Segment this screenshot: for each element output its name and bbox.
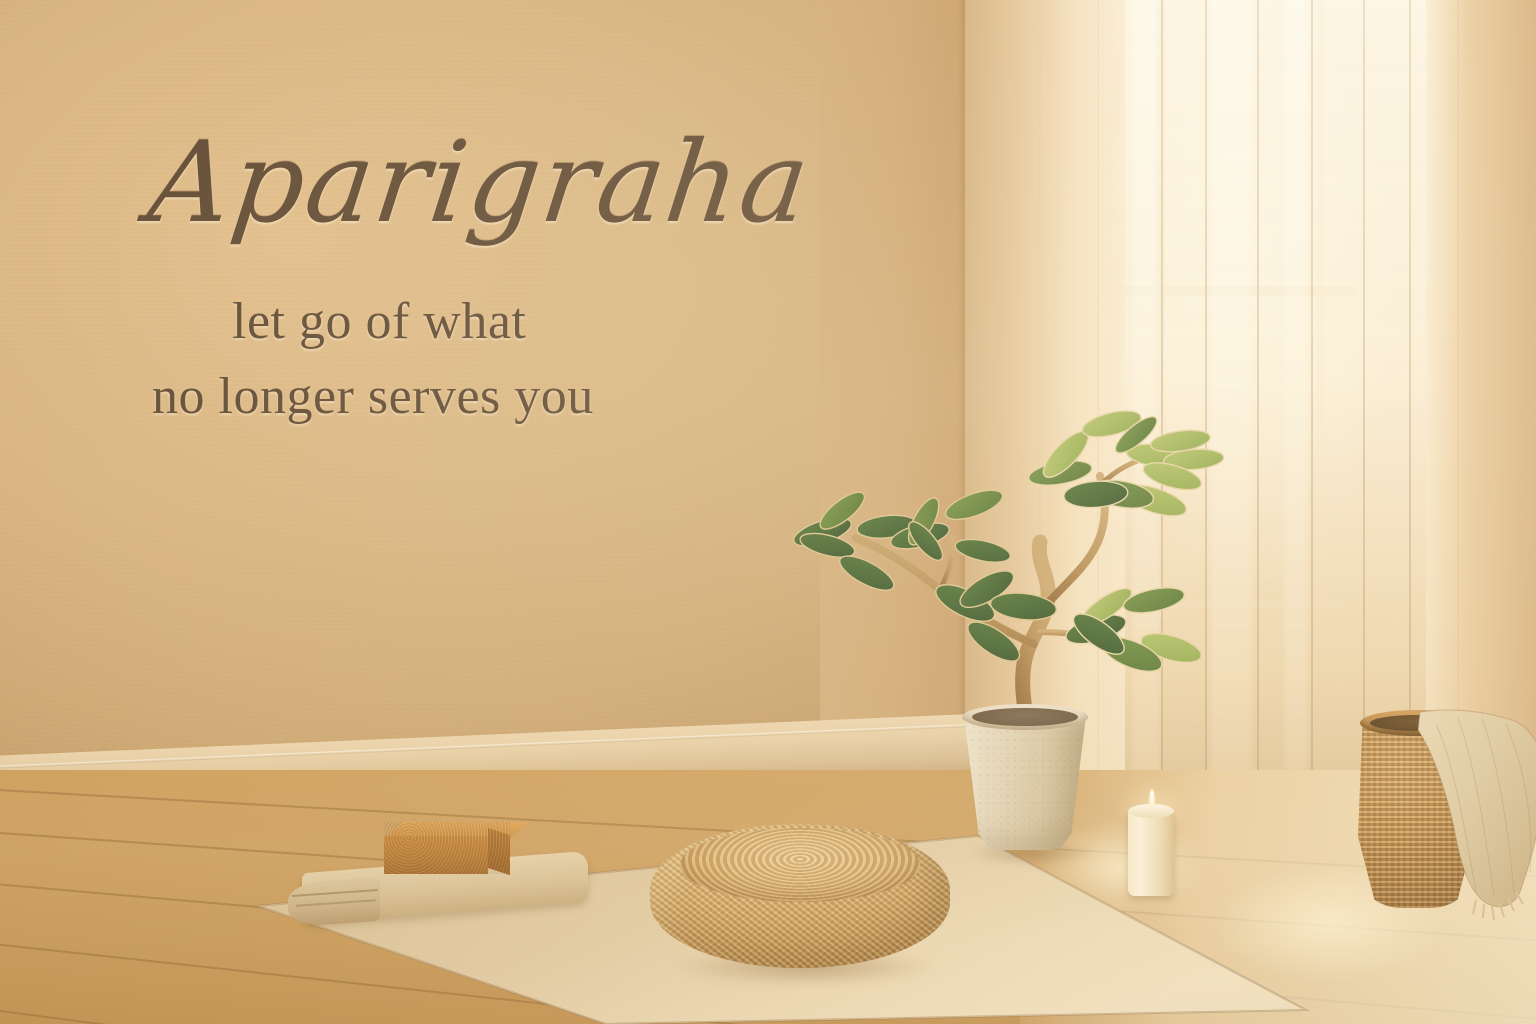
- planter-soil: [972, 708, 1078, 726]
- curtain-fold: [1311, 0, 1313, 830]
- curtain-highlight: [1285, 0, 1307, 830]
- candle-top-surface: [1128, 804, 1174, 818]
- throw-drape: [1418, 710, 1536, 907]
- pouf-top-surface: [680, 828, 920, 902]
- subtitle-line-1: let go of what: [232, 292, 526, 351]
- potted-plant: [800, 240, 1260, 740]
- candle-wax-body: [1128, 810, 1174, 896]
- throw-blanket: [1414, 708, 1536, 920]
- leaf-cluster-right-mid: [1063, 582, 1204, 678]
- pillar-candle: [1128, 784, 1178, 902]
- subtitle-line-2: no longer serves you: [152, 367, 594, 426]
- cork-block: [384, 822, 510, 874]
- meditation-room-scene: Aparigraha let go of what no longer serv…: [0, 0, 1536, 1024]
- pouf-top-weave: [680, 828, 920, 902]
- page-title: Aparigraha: [142, 118, 818, 248]
- jute-pouf: [650, 824, 950, 968]
- cork-texture: [384, 822, 510, 874]
- planter-texture: [964, 716, 1086, 850]
- ceramic-planter: [962, 704, 1088, 852]
